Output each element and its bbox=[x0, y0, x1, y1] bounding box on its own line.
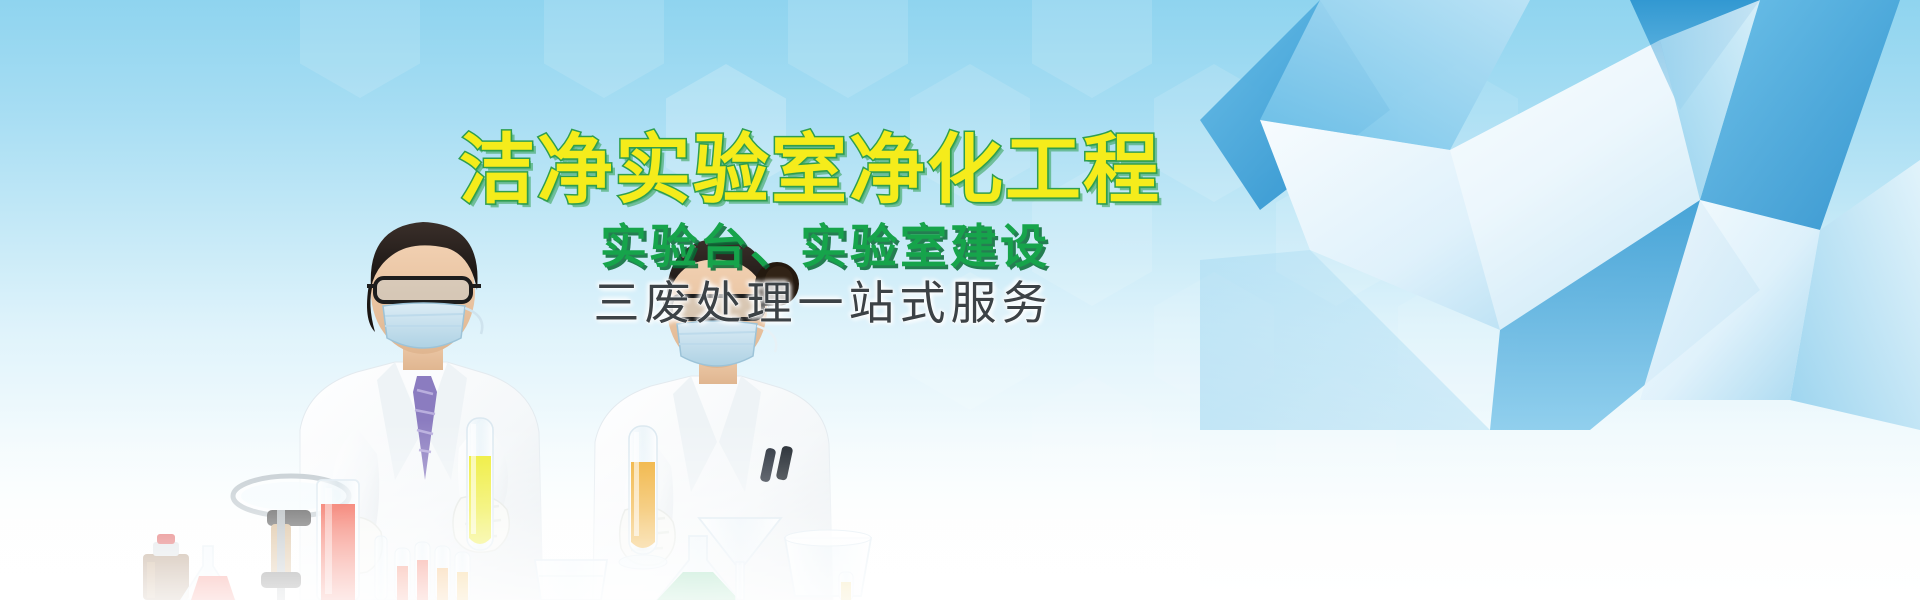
banner-headline: 洁净实验室净化工程 bbox=[440, 132, 1180, 210]
marketing-banner: 洁净实验室净化工程 实验台、实验室建设 三废处理一站式服务 bbox=[0, 0, 1920, 600]
hexagon-shape bbox=[788, 0, 908, 98]
banner-subline: 实验台、实验室建设 bbox=[470, 222, 1180, 271]
hexagon-shape bbox=[544, 0, 664, 98]
crystal-svg bbox=[1200, 0, 1920, 430]
crystal-polygon-decor bbox=[1200, 0, 1920, 430]
hexagon-shape bbox=[1032, 0, 1152, 98]
hexagon-shape bbox=[300, 0, 420, 98]
banner-thirdline: 三废处理一站式服务 bbox=[466, 279, 1180, 327]
banner-text-block: 洁净实验室净化工程 实验台、实验室建设 三废处理一站式服务 bbox=[440, 132, 1180, 327]
hexagon-shape bbox=[1032, 376, 1152, 514]
